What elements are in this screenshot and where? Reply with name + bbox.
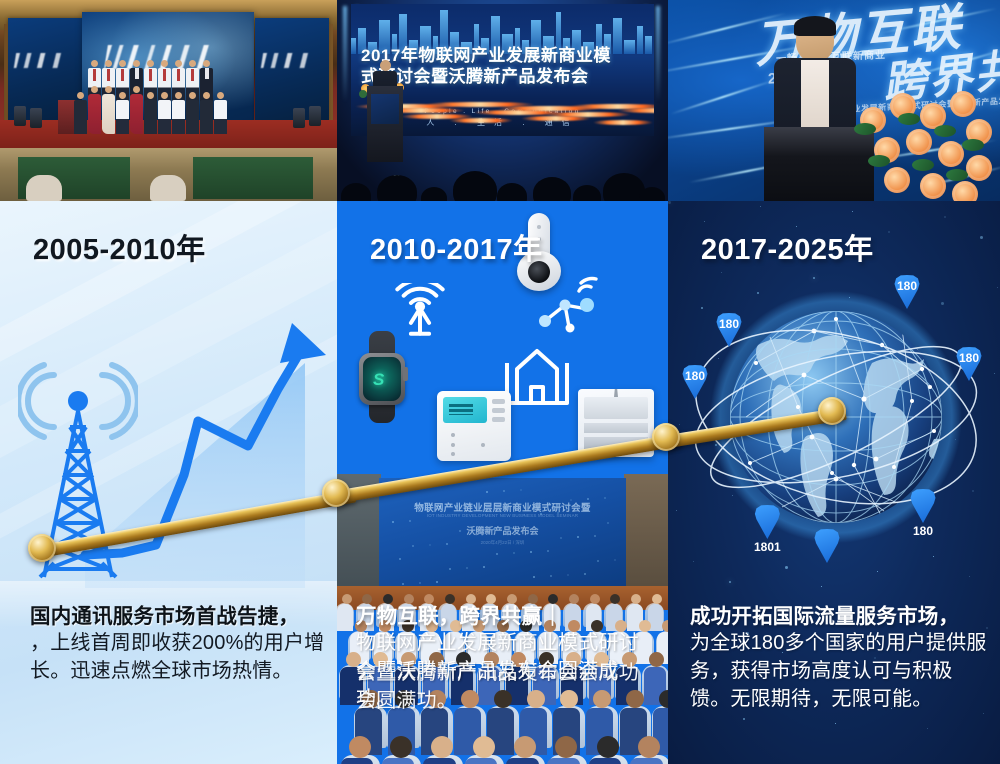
- caption-headline: 成功开拓国际流量服务市场，: [690, 603, 990, 630]
- thermostat-icon: [437, 391, 511, 461]
- map-pin-icon[interactable]: [814, 529, 840, 563]
- smart-home-icon: [503, 345, 571, 407]
- photo-speaker-at-podium: 万物互联 跨界共赢 一畅享移动互联新商业 2017 物联网产业发展新商业模式研讨…: [668, 0, 1000, 201]
- map-pin-icon[interactable]: 180: [894, 275, 920, 309]
- caption-2017-2025: 成功开拓国际流量服务市场， 为全球180多个国家的用户提供服务，获得市场高度认可…: [690, 603, 990, 713]
- caption-body: ，上线首周即收获200%的用户增长。迅速点燃全球市场热情。: [30, 630, 326, 685]
- caption-body-overlay: 会暨沃腾新产汛品发布会会成功会圆满功。: [356, 660, 656, 715]
- panel-title: 2010-2017年: [370, 226, 543, 268]
- conf-screen-line-small-2: 2020年4月22日 / 深圳: [387, 540, 618, 546]
- panel-title: 2017-2025年: [701, 226, 874, 268]
- photo-group-photo-on-stage: [0, 0, 337, 201]
- conf-screen-line2: 沃腾新产品发布会: [387, 524, 618, 537]
- caption-2005-2010: 国内通讯服务市场首战告捷， ，上线首周即收获200%的用户增长。迅速点燃全球市场…: [30, 603, 326, 686]
- caption-headline: 万物互联，跨界共赢｜: [356, 603, 656, 630]
- photo-led-stage-keynote: 2017年物联网产业发展新商业模 式研讨会暨沃腾新产品发布会 People . …: [337, 0, 668, 201]
- map-pin-icon[interactable]: 1801: [754, 505, 781, 554]
- conf-screen-line1: 物联网产业链业层层新商业模式研讨会暨: [387, 500, 618, 514]
- photo-audience-silhouettes: [337, 145, 668, 201]
- photo-people-row: [74, 86, 228, 134]
- appliance-icon: [578, 389, 654, 457]
- infographic-root: 2017年物联网产业发展新商业模 式研讨会暨沃腾新产品发布会 People . …: [0, 0, 1000, 764]
- caption-headline: 国内通讯服务市场首战告捷，: [30, 603, 326, 630]
- map-pin-icon[interactable]: 180: [682, 365, 708, 399]
- globe-network-icon: 180 180 180 180 1801 180: [686, 267, 986, 567]
- conference-led-screen: 物联网产业链业层层新商业模式研讨会暨 IOT INDUSTRY DEVELOPM…: [379, 478, 626, 590]
- caption-body: 物联网产业发展新商业模式研讨会暨沃腾新产品发布会圆满成功。 会暨沃腾新产汛品发布…: [356, 630, 656, 713]
- map-pin-icon[interactable]: 180: [956, 347, 982, 381]
- caption-body: 为全球180多个国家的用户提供服务，获得市场高度认可与积极馈。无限期待，无限可能…: [690, 630, 990, 713]
- smartwatch-icon: S: [353, 331, 411, 423]
- caption-2010-2017: 万物互联，跨界共赢｜ 物联网产业发展新商业模式研讨会暨沃腾新产品发布会圆满成功。…: [356, 603, 656, 713]
- map-pin-icon[interactable]: 180: [910, 489, 936, 538]
- panel-title: 2005-2010年: [33, 226, 206, 268]
- flower-arrangement: [854, 89, 994, 199]
- conf-screen-line-small-1: IOT INDUSTRY DEVELOPMENT NEW BUSINESS MO…: [387, 513, 618, 518]
- signal-tower-icon: [18, 331, 138, 581]
- photo-strip: 2017年物联网产业发展新商业模 式研讨会暨沃腾新产品发布会 People . …: [0, 0, 1000, 201]
- map-pin-icon[interactable]: 180: [716, 313, 742, 347]
